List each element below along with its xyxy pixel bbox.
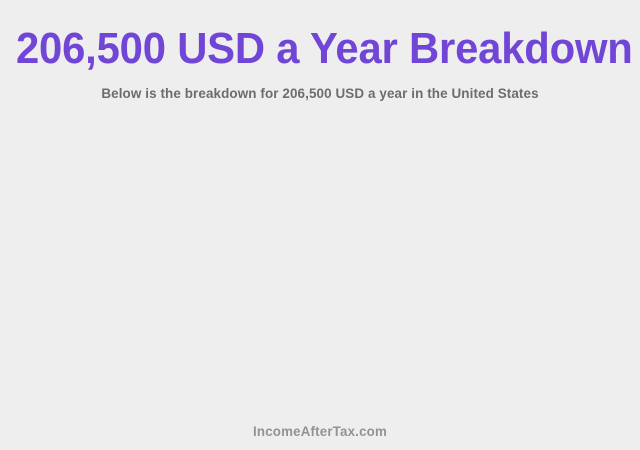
site-watermark: IncomeAfterTax.com xyxy=(16,422,624,440)
page-title: 206,500 USD a Year Breakdown xyxy=(16,23,624,75)
chart-plot-area xyxy=(0,112,640,412)
page-subtitle: Below is the breakdown for 206,500 USD a… xyxy=(13,84,627,102)
income-breakdown-infographic: 206,500 USD a Year Breakdown Below is th… xyxy=(0,0,640,450)
